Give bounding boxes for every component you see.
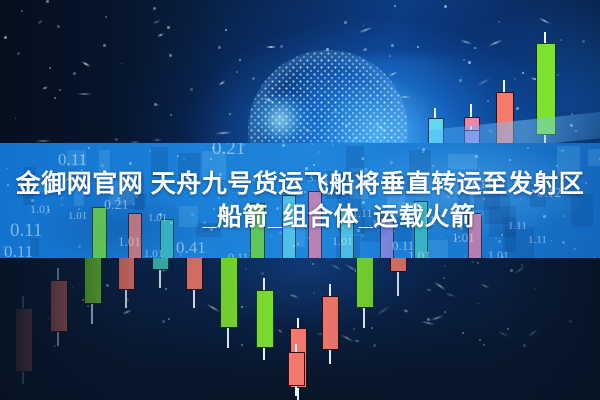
band-dot (443, 215, 446, 218)
particle-streak (476, 78, 491, 87)
particle-dot (153, 7, 156, 10)
particle-dot (487, 100, 489, 102)
banner-image: 0.110.213.111.110.121.011.010.211.010.11… (0, 0, 600, 400)
band-dot (210, 228, 213, 231)
particle-dot (49, 67, 51, 69)
band-number: 1.01 (68, 211, 87, 222)
particle-dot (345, 124, 348, 127)
band-number: 1.11 (470, 177, 492, 190)
band-dot (59, 190, 61, 192)
particle-dot (296, 113, 297, 114)
band-dot (313, 164, 315, 166)
band-dot (58, 183, 61, 186)
band-dot (265, 171, 268, 174)
band-bar (178, 153, 200, 188)
particle-streak (35, 140, 51, 143)
band-dot (477, 179, 479, 181)
candle-pink-band-1 (308, 191, 320, 258)
band-dot (475, 155, 478, 158)
particle-dot (344, 21, 347, 24)
band-number: 0.11 (58, 151, 87, 168)
band-dot (289, 179, 291, 181)
band-bar (458, 183, 470, 207)
band-number: 0.11 (412, 215, 436, 229)
particle-dot (394, 5, 396, 7)
band-bar (151, 147, 168, 177)
band-dot (137, 231, 139, 233)
band-dot (61, 204, 63, 206)
particle-dot (468, 61, 471, 64)
band-number: 1.01 (332, 235, 353, 247)
particle-dot (514, 78, 516, 80)
particle-dot (54, 97, 56, 99)
band-dot (242, 143, 245, 146)
particle-dot (17, 52, 20, 55)
particle-dot (15, 118, 16, 119)
particle-dot (169, 54, 172, 57)
candle-body (308, 191, 322, 258)
particle-dot (46, 0, 49, 3)
band-dot (574, 248, 576, 250)
band-dot (249, 250, 250, 251)
band-bar (571, 194, 593, 227)
particle-dot (190, 88, 193, 91)
band-number: 0.21 (104, 199, 129, 213)
particle-streak (152, 20, 161, 25)
band-dot (183, 158, 185, 160)
particle-streak (218, 80, 226, 86)
band-dot (159, 213, 162, 216)
band-number: 0.12 (537, 187, 562, 201)
particle-streak (460, 39, 472, 44)
band-dot (219, 173, 222, 176)
band-dot (556, 165, 558, 167)
band-dot (362, 201, 365, 204)
particle-dot (103, 44, 106, 47)
particle-dot (516, 107, 519, 110)
particle-streak (266, 46, 276, 48)
band-dot (217, 178, 219, 180)
particle-streak (301, 126, 314, 134)
particle-dot (459, 79, 462, 82)
particle-dot (363, 25, 364, 26)
particle-dot (239, 59, 241, 61)
particle-dot (389, 55, 391, 57)
band-dot (276, 207, 279, 210)
band-dot (332, 144, 334, 146)
bottom-edge-shading (0, 258, 600, 400)
band-dot (527, 176, 529, 178)
band-number: 0.11 (10, 221, 43, 240)
particle-dot (57, 25, 60, 28)
particle-dot (280, 45, 283, 48)
band-dot (177, 155, 179, 157)
particle-dot (105, 16, 107, 18)
band-dot (101, 164, 104, 167)
band-dot (135, 195, 138, 198)
particle-dot (167, 26, 170, 29)
particle-dot (474, 47, 476, 49)
band-dot (458, 236, 460, 238)
band-dot (327, 192, 330, 195)
particle-streak (399, 96, 411, 99)
band-dot (585, 182, 587, 184)
band-number: 3.11 (307, 171, 329, 184)
particle-dot (236, 71, 238, 73)
particle-dot (560, 39, 562, 41)
particle-streak (388, 71, 398, 77)
band-dot (279, 231, 282, 234)
particle-dot (582, 40, 585, 43)
band-dot (191, 213, 194, 216)
band-dot (314, 210, 317, 213)
band-dot (393, 213, 395, 215)
particle-dot (489, 69, 490, 70)
particle-streak (215, 131, 232, 134)
particle-streak (77, 93, 92, 95)
band-dot (129, 162, 132, 165)
headline-band: 0.110.213.111.110.121.011.010.211.010.11… (0, 143, 600, 258)
candle-body (92, 207, 107, 258)
particle-streak (538, 17, 551, 25)
band-number: 1.11 (508, 221, 527, 232)
candle-cyan-band-1 (282, 195, 294, 258)
candle-green-band-2 (250, 203, 263, 258)
particle-dot (498, 21, 500, 23)
band-dot (464, 240, 465, 241)
band-dot (78, 245, 81, 248)
particle-dot (463, 59, 465, 61)
bottom-background (0, 258, 600, 400)
band-dot (480, 213, 483, 216)
particle-dot (522, 72, 524, 74)
band-number: 1.01 (148, 213, 167, 224)
band-dot (532, 189, 535, 192)
band-bar (448, 154, 477, 169)
band-dot (33, 175, 36, 178)
band-dot (390, 161, 393, 164)
band-dot (318, 151, 320, 153)
band-number: 1.01 (408, 249, 431, 258)
particle-streak (374, 123, 388, 133)
particle-dot (391, 44, 394, 47)
band-bar (74, 179, 84, 206)
particle-streak (488, 39, 502, 46)
particle-dot (363, 49, 365, 51)
particle-dot (21, 10, 23, 12)
band-dot (305, 167, 308, 170)
band-dot (361, 234, 364, 237)
band-dot (78, 208, 80, 210)
band-dot (514, 180, 517, 183)
band-bar (179, 206, 198, 227)
particle-dot (229, 113, 231, 115)
band-dot (543, 215, 546, 218)
particle-dot (170, 114, 172, 116)
particle-streak (262, 97, 274, 104)
particle-dot (218, 46, 221, 49)
candle-green-band-1 (92, 207, 105, 257)
particle-dot (115, 138, 118, 141)
band-dot (354, 207, 356, 209)
band-dot (562, 241, 565, 244)
band-number: 0.11 (228, 251, 249, 258)
band-dot (397, 182, 399, 184)
particle-dot (4, 36, 7, 39)
particle-dot (417, 46, 419, 48)
particle-dot (353, 137, 356, 140)
band-dot (61, 197, 63, 199)
band-dot (373, 179, 376, 182)
particle-dot (557, 74, 559, 76)
band-dot (460, 227, 463, 230)
particle-dot (252, 77, 255, 80)
band-dot (498, 240, 501, 243)
band-number: 1.11 (528, 235, 547, 246)
particle-dot (334, 110, 337, 113)
band-dot (282, 144, 285, 147)
band-dot (66, 178, 69, 181)
band-dot (252, 178, 255, 181)
band-bar (409, 150, 431, 173)
band-dot (212, 147, 214, 149)
particle-streak (42, 86, 48, 90)
band-dot (240, 171, 242, 173)
band-dot (561, 149, 564, 152)
band-dot (45, 213, 47, 215)
band-dot (31, 199, 34, 202)
band-number: 1.01 (118, 235, 141, 248)
band-bar (24, 167, 36, 180)
band-dot (464, 255, 466, 257)
band-dot (447, 195, 450, 198)
particle-streak (157, 33, 165, 38)
band-dot (81, 169, 83, 171)
particle-dot (326, 48, 329, 51)
candle-body (282, 195, 296, 258)
particle-dot (344, 132, 346, 134)
particle-streak (81, 61, 90, 68)
particle-dot (225, 29, 227, 31)
band-bar (196, 223, 221, 237)
band-bar (337, 172, 361, 209)
particle-dot (444, 5, 447, 8)
particle-dot (157, 104, 159, 106)
particle-dot (59, 89, 61, 91)
particle-dot (121, 63, 122, 64)
particle-streak (37, 19, 43, 24)
band-bar (387, 181, 405, 217)
band-dot (293, 245, 295, 247)
band-number: 1.04 (372, 219, 391, 230)
band-dot (203, 221, 206, 224)
particle-streak (153, 138, 162, 141)
band-bar (134, 174, 144, 210)
band-dot (357, 229, 360, 232)
band-number: 0.21 (212, 143, 245, 158)
band-dot (117, 197, 120, 200)
particle-dot (73, 72, 76, 75)
band-number: 0.11 (4, 243, 33, 258)
band-dot (455, 238, 457, 240)
candle-body (250, 203, 265, 258)
particle-dot (66, 137, 67, 138)
band-number: 1.01 (144, 249, 163, 258)
particle-streak (358, 26, 373, 33)
